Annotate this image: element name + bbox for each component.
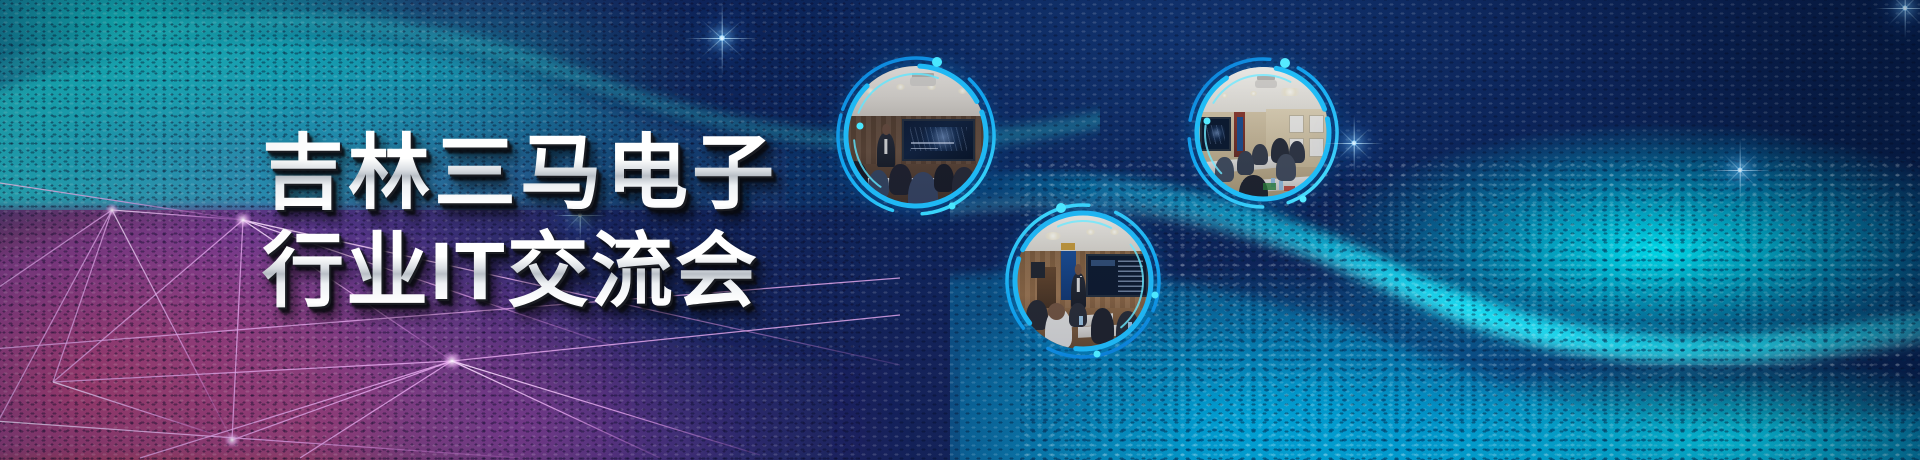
photo-ring-decoration (1003, 201, 1163, 361)
banner-root: 吉林三马电子 行业IT交流会 (0, 0, 1920, 460)
headline-line-2: 行业IT交流会 (262, 224, 962, 320)
headline-block: 吉林三马电子 行业IT交流会 (262, 126, 962, 320)
photo-ring-decoration (1185, 55, 1341, 211)
photo-speaker-microphone[interactable] (1003, 201, 1163, 361)
photo-meeting-room-seated[interactable] (1185, 55, 1341, 211)
headline-line-1: 吉林三马电子 (262, 126, 962, 222)
